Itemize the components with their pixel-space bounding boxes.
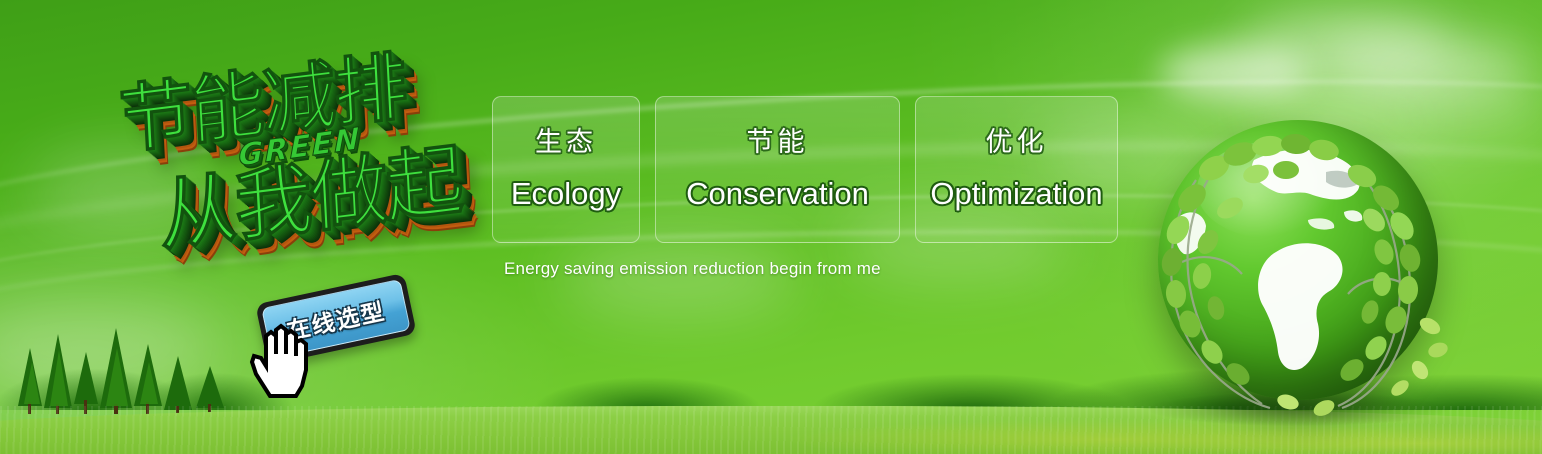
leafy-earth-globe-icon bbox=[1138, 112, 1458, 442]
cta-button-area[interactable]: 在线选型 bbox=[252, 274, 432, 379]
feature-card-ecology[interactable]: 生态 Ecology bbox=[492, 96, 640, 243]
feature-card-cn-label: 优化 bbox=[986, 129, 1048, 156]
feature-card-cn-label: 节能 bbox=[747, 129, 809, 156]
feature-card-conservation[interactable]: 节能 Conservation bbox=[655, 96, 900, 243]
feature-card-en-label: Conservation bbox=[686, 178, 869, 209]
feature-card-en-label: Ecology bbox=[511, 178, 621, 209]
feature-card-en-label: Optimization bbox=[930, 178, 1102, 209]
hero-title-3d: 节能减排 GREEN 从我做起 bbox=[100, 38, 500, 278]
pine-tree-icon bbox=[0, 304, 250, 414]
tagline: Energy saving emission reduction begin f… bbox=[504, 259, 881, 279]
feature-card-optimization[interactable]: 优化 Optimization bbox=[915, 96, 1118, 243]
hand-pointer-icon bbox=[244, 314, 322, 398]
eco-promo-banner: 节能减排 GREEN 从我做起 在线选型 生态 Ecology 节能 Conse… bbox=[0, 0, 1542, 454]
feature-card-cn-label: 生态 bbox=[535, 129, 597, 156]
leaf-vine-ring-icon bbox=[1138, 112, 1458, 422]
feature-cards: 生态 Ecology 节能 Conservation 优化 Optimizati… bbox=[492, 96, 1118, 243]
